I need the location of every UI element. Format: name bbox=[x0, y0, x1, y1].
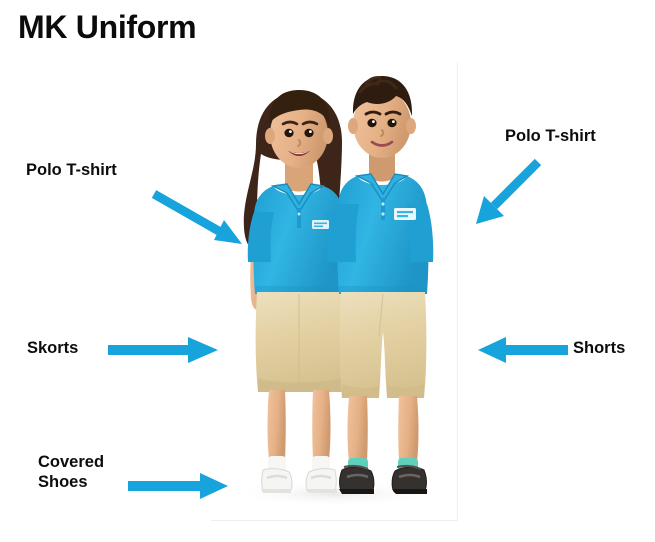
callout-arrow-skorts bbox=[108, 336, 220, 364]
girl-shoe-right bbox=[306, 469, 337, 493]
page-title: MK Uniform bbox=[18, 8, 196, 46]
boy-sleeve-left bbox=[332, 204, 359, 262]
boy-chest-logo bbox=[394, 208, 416, 220]
boy-shoe-left bbox=[339, 466, 374, 494]
callout-label-polo-right: Polo T-shirt bbox=[505, 126, 596, 146]
girl-chest-logo bbox=[312, 220, 329, 229]
callout-arrow-covered-shoes bbox=[128, 472, 230, 500]
boy-leg-right bbox=[398, 396, 418, 462]
girl-skort bbox=[256, 292, 345, 392]
uniform-photo bbox=[211, 62, 458, 521]
callout-arrow-polo-left bbox=[150, 190, 250, 245]
callout-label-covered-shoes: Covered Shoes bbox=[38, 452, 104, 492]
callout-label-polo-left: Polo T-shirt bbox=[26, 160, 117, 180]
girl-leg-right bbox=[312, 390, 330, 460]
children-illustration bbox=[211, 62, 457, 520]
uniform-infographic: MK Uniform bbox=[0, 0, 655, 542]
callout-arrow-shorts bbox=[478, 336, 568, 364]
girl-leg-left bbox=[268, 390, 286, 460]
girl-shoe-left bbox=[261, 469, 292, 493]
callout-label-shorts: Shorts bbox=[573, 338, 625, 358]
boy-leg-left bbox=[348, 396, 368, 462]
boy-shoe-right bbox=[392, 466, 427, 494]
callout-label-skorts: Skorts bbox=[27, 338, 78, 358]
callout-arrow-polo-right bbox=[470, 158, 560, 228]
